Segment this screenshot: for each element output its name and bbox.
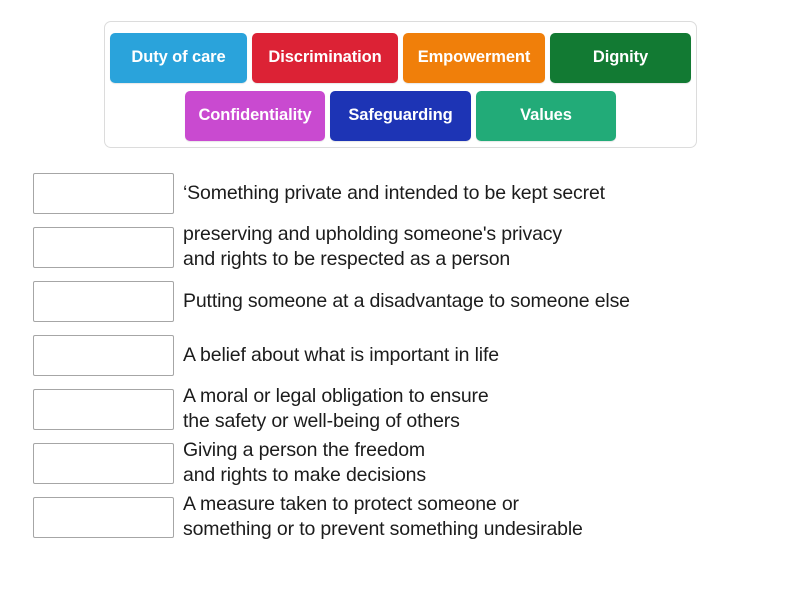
answer-definition-text: Putting someone at a disadvantage to som… [183, 289, 630, 314]
answer-list: ‘Something private and intended to be ke… [0, 166, 800, 544]
tile-bank-row-1: Duty of careDiscriminationEmpowermentDig… [105, 33, 696, 83]
tile-duty-of-care[interactable]: Duty of care [110, 33, 247, 83]
answer-row: Giving a person the freedom and rights t… [0, 436, 800, 490]
answer-definition-text: A moral or legal obligation to ensure th… [183, 384, 489, 434]
answer-row: A measure taken to protect someone or so… [0, 490, 800, 544]
answer-definition-text: A belief about what is important in life [183, 343, 499, 368]
answer-row: A belief about what is important in life [0, 328, 800, 382]
answer-definition-text: Giving a person the freedom and rights t… [183, 438, 426, 488]
answer-definition-text: ‘Something private and intended to be ke… [183, 181, 605, 206]
answer-row: preserving and upholding someone's priva… [0, 220, 800, 274]
answer-drop-box[interactable] [33, 335, 174, 376]
answer-row: Putting someone at a disadvantage to som… [0, 274, 800, 328]
answer-row: A moral or legal obligation to ensure th… [0, 382, 800, 436]
answer-definition-text: A measure taken to protect someone or so… [183, 492, 583, 542]
tile-discrimination[interactable]: Discrimination [252, 33, 398, 83]
answer-drop-box[interactable] [33, 389, 174, 430]
answer-drop-box[interactable] [33, 227, 174, 268]
answer-tile-bank: Duty of careDiscriminationEmpowermentDig… [104, 21, 697, 148]
tile-values[interactable]: Values [476, 91, 616, 141]
tile-empowerment[interactable]: Empowerment [403, 33, 545, 83]
tile-confidentiality[interactable]: Confidentiality [185, 91, 325, 141]
tile-safeguarding[interactable]: Safeguarding [330, 91, 471, 141]
answer-drop-box[interactable] [33, 443, 174, 484]
answer-drop-box[interactable] [33, 281, 174, 322]
tile-dignity[interactable]: Dignity [550, 33, 691, 83]
answer-row: ‘Something private and intended to be ke… [0, 166, 800, 220]
tile-bank-row-2: ConfidentialitySafeguardingValues [105, 91, 696, 141]
answer-drop-box[interactable] [33, 497, 174, 538]
answer-drop-box[interactable] [33, 173, 174, 214]
answer-definition-text: preserving and upholding someone's priva… [183, 222, 562, 272]
